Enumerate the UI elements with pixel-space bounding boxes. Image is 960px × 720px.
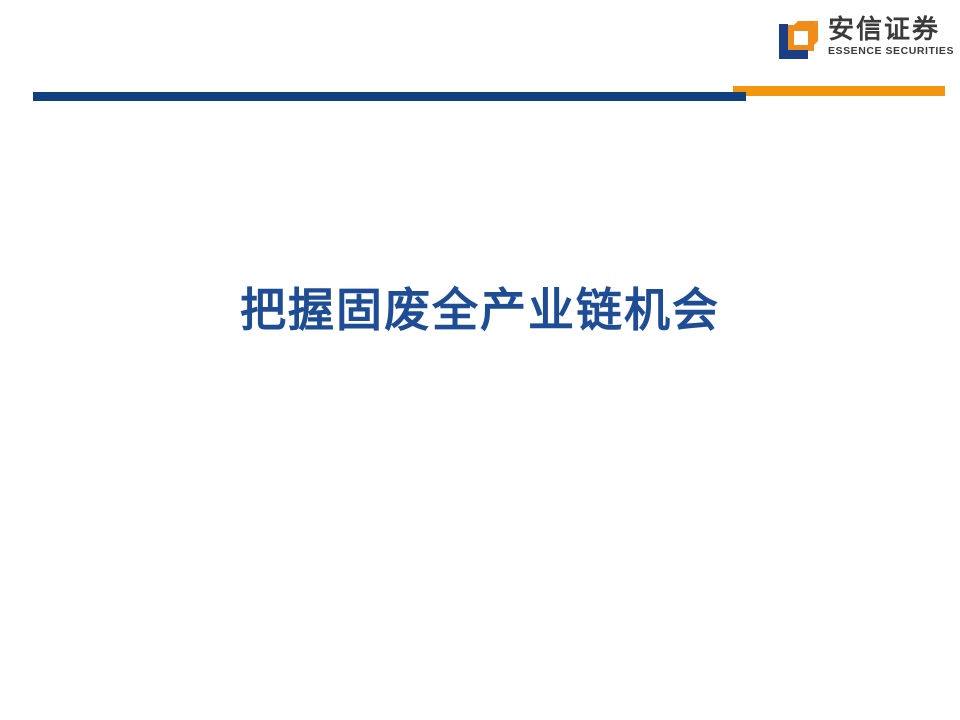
brand-name-en: ESSENCE SECURITIES: [828, 46, 954, 58]
header-divider-orange: [733, 86, 945, 96]
brand-name-cn: 安信证券: [828, 16, 954, 43]
brand-text: 安信证券 ESSENCE SECURITIES: [828, 14, 954, 58]
brand-lockup: 安信证券 ESSENCE SECURITIES: [775, 14, 955, 76]
essence-securities-logo-mark-icon: [775, 17, 821, 63]
page-title: 把握固废全产业链机会: [240, 284, 720, 337]
header-divider-blue: [33, 92, 746, 101]
section-title-container: 把握固废全产业链机会: [0, 284, 960, 337]
slide: 安信证券 ESSENCE SECURITIES 把握固废全产业链机会: [0, 0, 960, 720]
